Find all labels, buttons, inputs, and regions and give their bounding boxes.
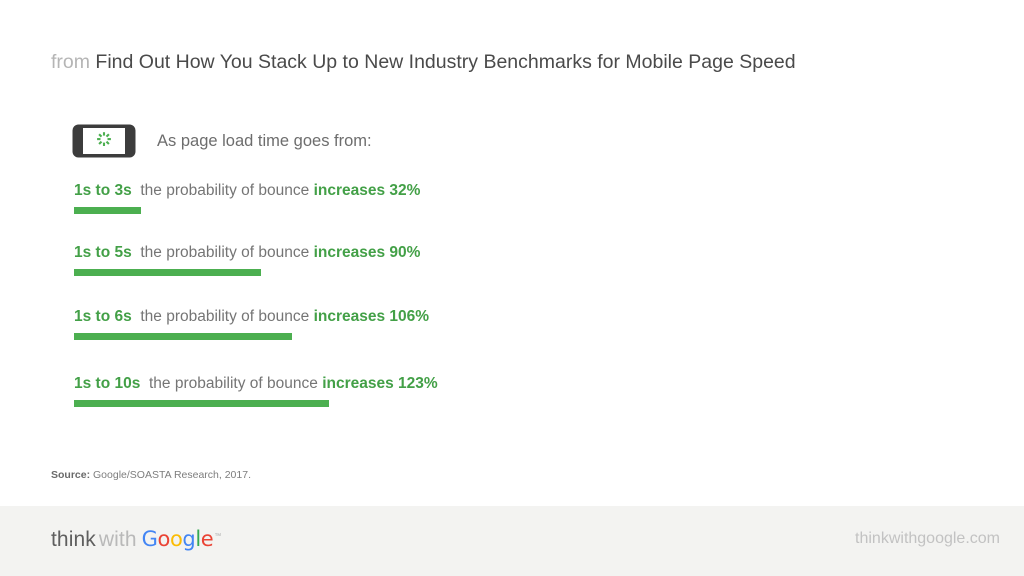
title-prefix: from xyxy=(51,51,90,73)
stat-change: increases 123% xyxy=(322,375,437,392)
intro-block: As page load time goes from: xyxy=(72,124,372,158)
source-note: Source: Google/SOASTA Research, 2017. xyxy=(51,469,251,481)
stat-line: 1s to 6s the probability of bounce incre… xyxy=(74,307,429,327)
stat-row: 1s to 10s the probability of bounce incr… xyxy=(74,374,438,407)
slide-canvas: from Find Out How You Stack Up to New In… xyxy=(0,0,1024,576)
stat-range: 1s to 5s xyxy=(74,244,132,261)
stat-row: 1s to 5s the probability of bounce incre… xyxy=(74,243,420,276)
page-title: from Find Out How You Stack Up to New In… xyxy=(51,49,796,75)
stat-middle-text: the probability of bounce xyxy=(140,244,309,261)
logo-word-google: Google xyxy=(137,527,214,551)
title-text: Find Out How You Stack Up to New Industr… xyxy=(95,51,795,73)
logo-letter-g2: g xyxy=(182,527,195,551)
source-label: Source: xyxy=(51,469,90,481)
footer-bar: thinkwithGoogle™ thinkwithgoogle.com xyxy=(0,506,1024,576)
logo-letter-o2: o xyxy=(170,527,182,551)
stat-row: 1s to 6s the probability of bounce incre… xyxy=(74,307,429,340)
stat-bar xyxy=(74,333,292,340)
footer-url[interactable]: thinkwithgoogle.com xyxy=(855,530,1000,548)
logo-word-with: with xyxy=(96,528,137,551)
stat-bar xyxy=(74,207,141,214)
stat-line: 1s to 10s the probability of bounce incr… xyxy=(74,374,438,394)
stat-bar xyxy=(74,400,329,407)
stat-range: 1s to 6s xyxy=(74,308,132,325)
stat-middle-text: the probability of bounce xyxy=(140,182,309,199)
mobile-phone-loading-icon xyxy=(72,124,136,158)
stat-line: 1s to 5s the probability of bounce incre… xyxy=(74,243,420,263)
trademark-icon: ™ xyxy=(213,533,221,540)
stat-row: 1s to 3s the probability of bounce incre… xyxy=(74,181,420,214)
stat-range: 1s to 10s xyxy=(74,375,140,392)
source-text: Google/SOASTA Research, 2017. xyxy=(93,469,251,481)
stat-bar xyxy=(74,269,261,276)
stat-change: increases 106% xyxy=(314,308,429,325)
stat-change: increases 32% xyxy=(314,182,421,199)
stat-line: 1s to 3s the probability of bounce incre… xyxy=(74,181,420,201)
logo-word-think: think xyxy=(51,528,96,551)
stat-middle-text: the probability of bounce xyxy=(140,308,309,325)
think-with-google-logo[interactable]: thinkwithGoogle™ xyxy=(51,524,221,553)
logo-letter-g1: G xyxy=(142,527,158,551)
logo-letter-o1: o xyxy=(157,527,169,551)
intro-text: As page load time goes from: xyxy=(157,132,372,151)
logo-letter-e: e xyxy=(201,527,214,551)
stat-range: 1s to 3s xyxy=(74,182,132,199)
stat-change: increases 90% xyxy=(314,244,421,261)
stat-middle-text: the probability of bounce xyxy=(149,375,318,392)
